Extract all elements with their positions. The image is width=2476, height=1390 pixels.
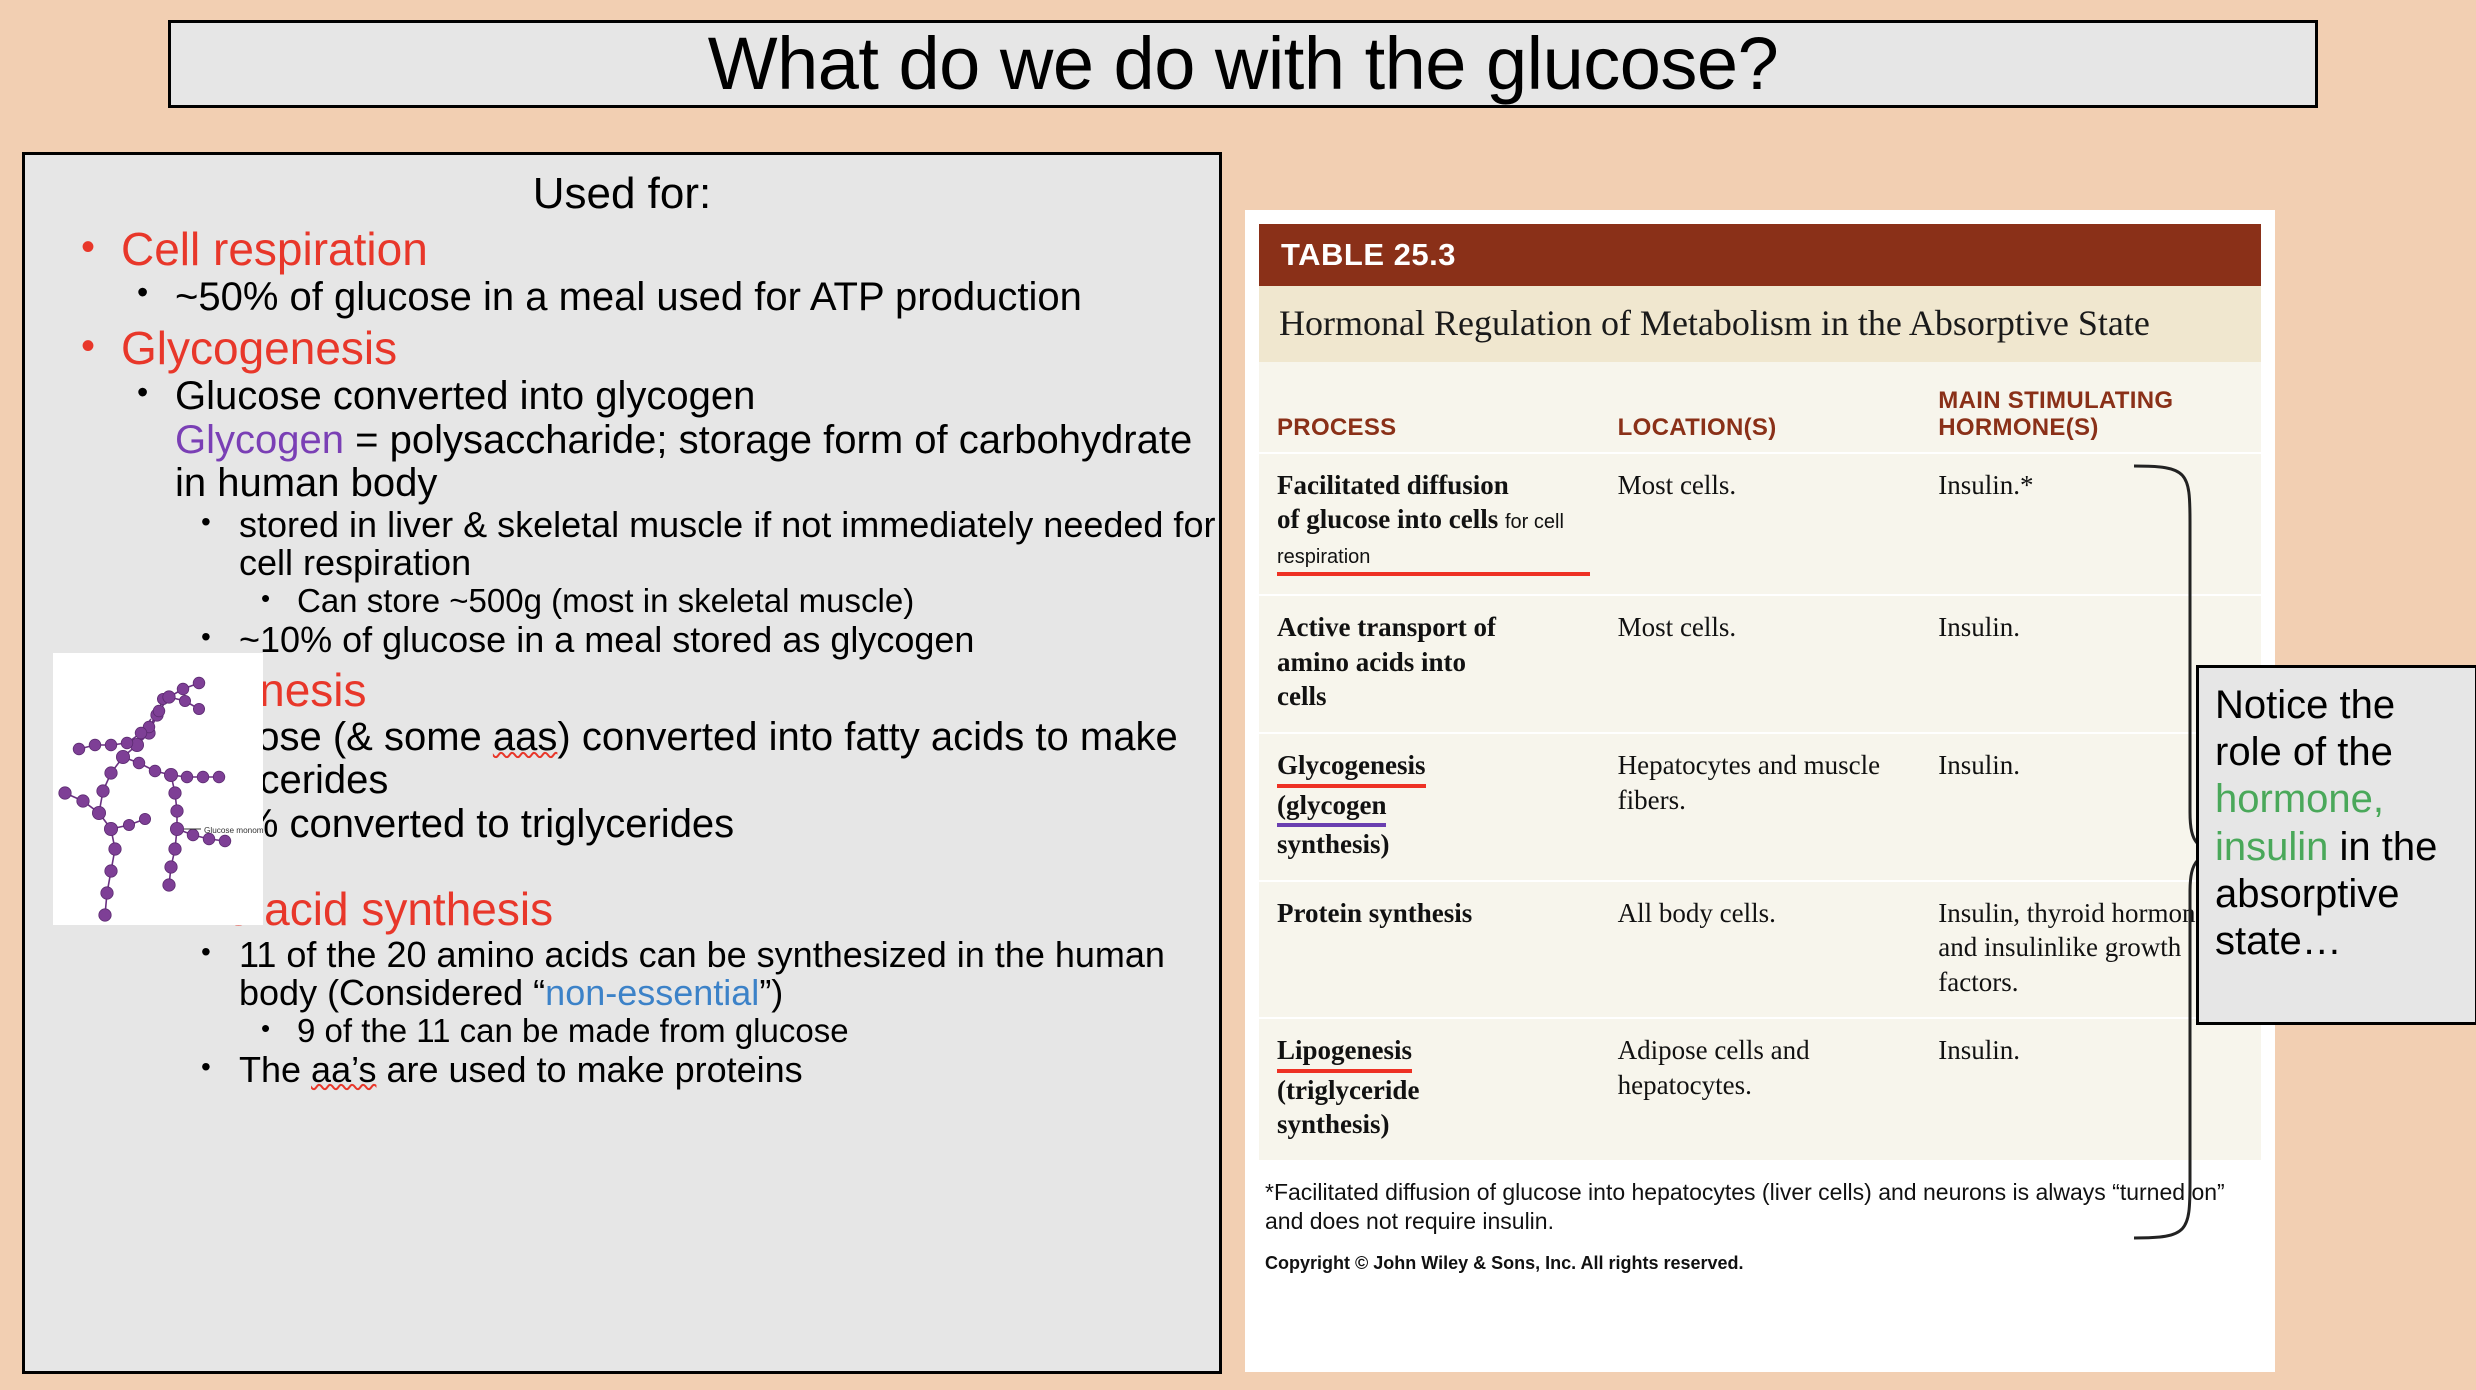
copyright-notice: Copyright © John Wiley & Sons, Inc. All … xyxy=(1259,1237,2261,1274)
bullet-icon: • xyxy=(201,937,211,967)
process-line-2: amino acids into xyxy=(1277,647,1466,677)
bullet-icon: • xyxy=(81,226,95,268)
table-row: Protein synthesis All body cells. Insuli… xyxy=(1259,881,2261,1019)
outline-item-can-store-500g: • Can store ~500g (most in skeletal musc… xyxy=(25,584,1219,619)
cell-process: Active transport of amino acids into cel… xyxy=(1259,595,1600,733)
cell-process: Glycogenesis (glycogen synthesis) xyxy=(1259,733,1600,881)
process-line-3: cells xyxy=(1277,681,1326,711)
bullet-icon: • xyxy=(261,1015,270,1043)
process-line-1: Active transport of xyxy=(1277,612,1496,642)
bullet-icon: • xyxy=(201,1052,211,1082)
process-line-1: Lipogenesis xyxy=(1277,1033,1412,1073)
bullet-icon: • xyxy=(137,276,148,310)
left-content-panel: Used for: • Cell respiration • ~50% of g… xyxy=(22,152,1222,1374)
outline-item-label: The aa’s are used to make proteins xyxy=(239,1049,803,1090)
process-line-1: Glycogenesis xyxy=(1277,748,1426,788)
table-banner: TABLE 25.3 xyxy=(1259,224,2261,286)
process-line-3: synthesis) xyxy=(1277,1109,1390,1139)
callout-line-5: state… xyxy=(2215,919,2342,963)
cell-location: All body cells. xyxy=(1600,881,1921,1019)
glycogen-term: Glycogen xyxy=(175,418,344,462)
outline-item-label: Can store ~500g (most in skeletal muscle… xyxy=(297,582,914,619)
column-header-process: PROCESS xyxy=(1259,362,1600,453)
callout-line-3-tail: in the xyxy=(2328,825,2437,869)
process-line-2: (glycogen xyxy=(1277,788,1386,828)
bullet-icon: • xyxy=(137,376,148,410)
process-line-2: of glucose into cells for cell respirati… xyxy=(1277,502,1590,576)
cell-location: Most cells. xyxy=(1600,595,1921,733)
cell-process: Facilitated diffusion of glucose into ce… xyxy=(1259,453,1600,596)
cell-location: Most cells. xyxy=(1600,453,1921,596)
process-line-3: synthesis) xyxy=(1277,829,1390,859)
outline-heading-label: Glycogenesis xyxy=(121,322,397,374)
glycogen-structure-diagram: Glucose monomer xyxy=(53,653,263,925)
page-title: What do we do with the glucose? xyxy=(708,27,1778,101)
outline-item-label: Glucose (& some aas) converted into fatt… xyxy=(175,715,1178,801)
callout-line-2: role of the xyxy=(2215,730,2393,774)
glycogen-structure-svg: Glucose monomer xyxy=(53,653,263,925)
bullet-icon: • xyxy=(261,585,270,613)
cell-process: Lipogenesis (triglyceride synthesis) xyxy=(1259,1018,1600,1160)
callout-box: Notice the role of the hormone, insulin … xyxy=(2196,665,2476,1025)
glucose-monomer-label: Glucose monomer xyxy=(204,826,263,835)
table-row: Active transport of amino acids into cel… xyxy=(1259,595,2261,733)
outline-item-label: 11 of the 20 amino acids can be synthesi… xyxy=(239,934,1165,1013)
table-row: Lipogenesis (triglyceride synthesis) Adi… xyxy=(1259,1018,2261,1160)
process-line-2-text: of glucose into cells xyxy=(1277,504,1498,534)
outline-item-label: 9 of the 11 can be made from glucose xyxy=(297,1012,849,1049)
bullet-icon: • xyxy=(201,622,211,652)
callout-line-4: absorptive xyxy=(2215,872,2400,916)
table-subtitle: Hormonal Regulation of Metabolism in the… xyxy=(1259,286,2261,362)
outline-item-label: stored in liver & skeletal muscle if not… xyxy=(239,504,1215,583)
table-header-row: PROCESS LOCATION(S) MAIN STIMULATING HOR… xyxy=(1259,362,2261,453)
bullet-icon: • xyxy=(201,507,211,537)
bullet-icon: • xyxy=(81,325,95,367)
process-line-2: (triglyceride xyxy=(1277,1075,1419,1105)
callout-text: Notice the role of the hormone, insulin … xyxy=(2215,682,2463,965)
outline-heading-glycogenesis: • Glycogenesis xyxy=(25,324,1219,373)
column-header-locations: LOCATION(S) xyxy=(1600,362,1921,453)
callout-highlight-hormone: hormone, xyxy=(2215,777,2384,821)
slide-title-box: What do we do with the glucose? xyxy=(168,20,2318,108)
outline-heading-label: Cell respiration xyxy=(121,223,428,275)
process-line-1: Facilitated diffusion xyxy=(1277,470,1509,500)
used-for-heading: Used for: xyxy=(25,169,1219,219)
spellcheck-underline: aas xyxy=(493,715,558,759)
outline-item-label: ~10% of glucose in a meal stored as glyc… xyxy=(239,619,974,660)
outline-item-aas-make-proteins: • The aa’s are used to make proteins xyxy=(25,1051,1219,1089)
outline-item-label: Glucose converted into glycogen xyxy=(175,374,755,418)
table-row: Glycogenesis (glycogen synthesis) Hepato… xyxy=(1259,733,2261,881)
outline-item-eleven-of-twenty: • 11 of the 20 amino acids can be synthe… xyxy=(25,936,1219,1012)
cell-hormone: Insulin.* xyxy=(1920,453,2261,596)
table-footnote: *Facilitated diffusion of glucose into h… xyxy=(1259,1160,2261,1237)
outline-item-nine-of-eleven: • 9 of the 11 can be made from glucose xyxy=(25,1014,1219,1049)
spellcheck-underline: aa’s xyxy=(311,1049,376,1090)
outline-item-stored-in-liver: • stored in liver & skeletal muscle if n… xyxy=(25,506,1219,582)
outline-item-atp-production: • ~50% of glucose in a meal used for ATP… xyxy=(25,276,1219,318)
cell-hormone: Insulin. xyxy=(1920,1018,2261,1160)
hormonal-regulation-table: PROCESS LOCATION(S) MAIN STIMULATING HOR… xyxy=(1259,362,2261,1160)
outline-item-glucose-to-glycogen: • Glucose converted into glycogen xyxy=(25,375,1219,417)
column-header-hormones: MAIN STIMULATING HORMONE(S) xyxy=(1920,362,2261,453)
cell-process: Protein synthesis xyxy=(1259,881,1600,1019)
table-card: TABLE 25.3 Hormonal Regulation of Metabo… xyxy=(1245,210,2275,1372)
callout-line-1: Notice the xyxy=(2215,683,2395,727)
non-essential-term: non-essential xyxy=(545,972,759,1013)
outline-item-label: ~50% of glucose in a meal used for ATP p… xyxy=(175,275,1082,319)
cell-location: Hepatocytes and muscle fibers. xyxy=(1600,733,1921,881)
callout-highlight-insulin: insulin xyxy=(2215,825,2328,869)
cell-location: Adipose cells and hepatocytes. xyxy=(1600,1018,1921,1160)
outline-item-glycogen-definition: Glycogen = polysaccharide; storage form … xyxy=(25,419,1219,504)
outline-heading-cell-respiration: • Cell respiration xyxy=(25,225,1219,274)
table-row: Facilitated diffusion of glucose into ce… xyxy=(1259,453,2261,596)
